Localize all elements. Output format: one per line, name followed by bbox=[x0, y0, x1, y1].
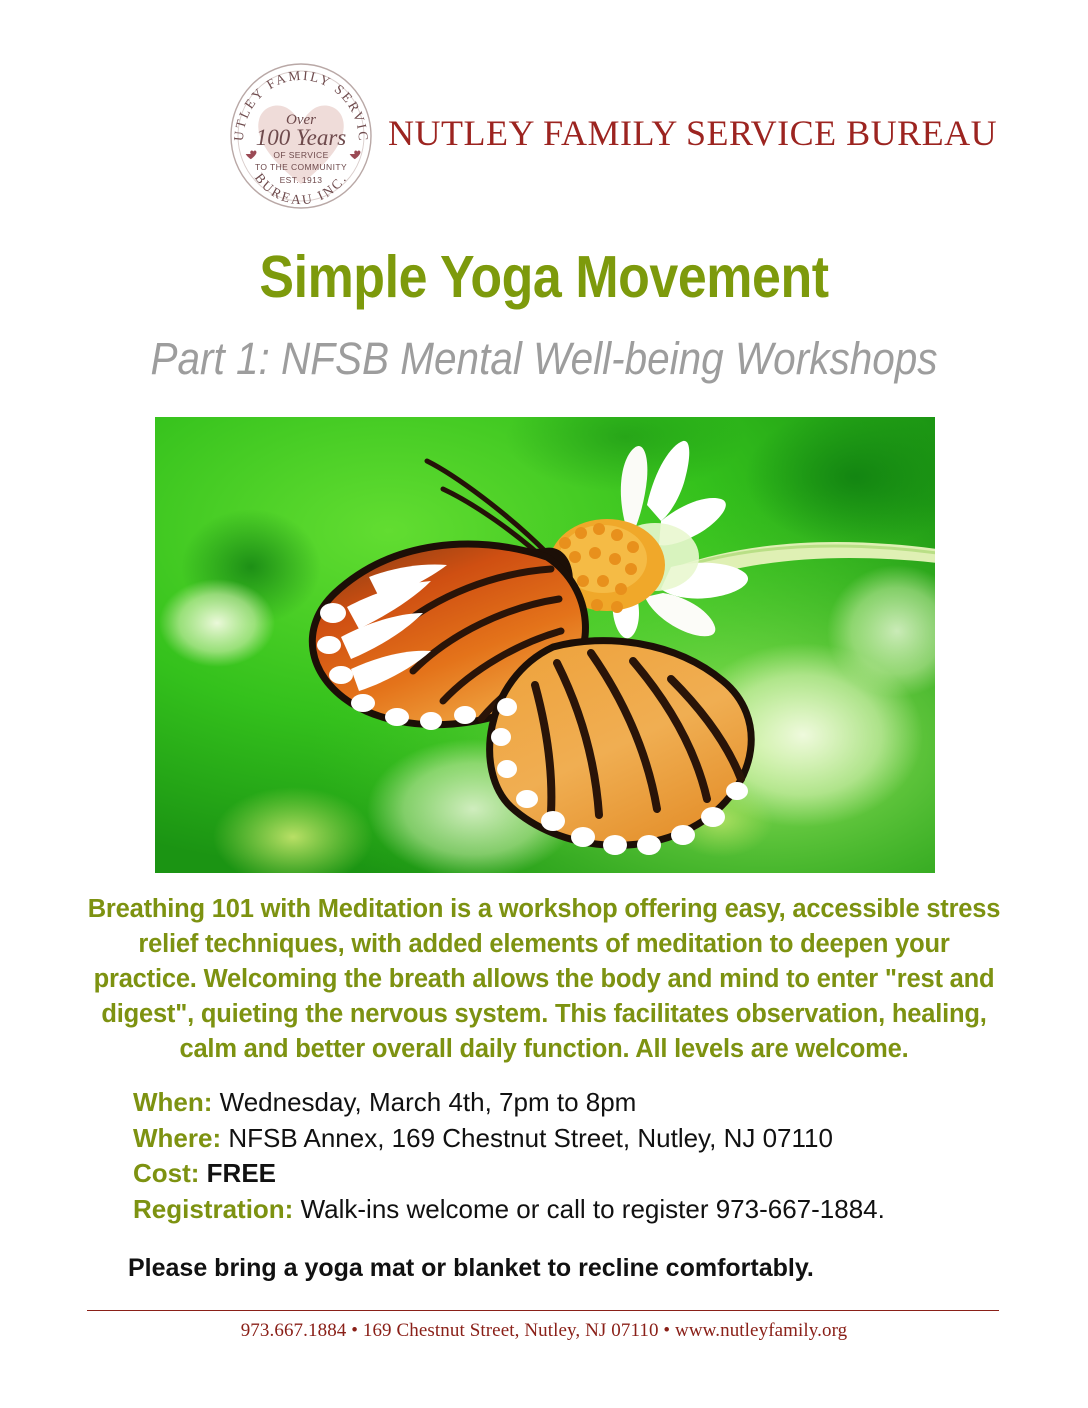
footer-contact-line: 973.667.1884 • 169 Chestnut Street, Nutl… bbox=[0, 1320, 1088, 1342]
organization-name: NUTLEY FAMILY SERVICE BUREAU bbox=[388, 112, 997, 154]
detail-value-when: Wednesday, March 4th, 7pm to 8pm bbox=[212, 1087, 636, 1117]
seal-years-text: 100 Years bbox=[256, 125, 347, 150]
detail-row-cost: Cost: FREE bbox=[133, 1156, 993, 1192]
detail-row-where: Where: NFSB Annex, 169 Chestnut Street, … bbox=[133, 1121, 993, 1157]
detail-row-when: When: Wednesday, March 4th, 7pm to 8pm bbox=[133, 1085, 993, 1121]
event-details: When: Wednesday, March 4th, 7pm to 8pm W… bbox=[133, 1085, 993, 1227]
detail-label-where: Where: bbox=[133, 1123, 221, 1153]
bring-mat-note: Please bring a yoga mat or blanket to re… bbox=[128, 1254, 814, 1283]
butterfly-photo bbox=[155, 417, 935, 873]
detail-value-where: NFSB Annex, 169 Chestnut Street, Nutley,… bbox=[221, 1123, 833, 1153]
detail-value-registration: Walk-ins welcome or call to register 973… bbox=[293, 1194, 885, 1224]
photo-bokeh-white-left bbox=[159, 579, 275, 667]
footer-divider bbox=[87, 1310, 999, 1311]
seal-community-text: TO THE COMMUNITY bbox=[255, 162, 347, 172]
detail-row-registration: Registration: Walk-ins welcome or call t… bbox=[133, 1192, 993, 1228]
flyer-header: NUTLEY FAMILY SERVICE BUREAU INC. Over 1… bbox=[0, 0, 1088, 225]
detail-label-cost: Cost: bbox=[133, 1158, 199, 1188]
nfsb-seal-logo: NUTLEY FAMILY SERVICE BUREAU INC. Over 1… bbox=[227, 60, 375, 212]
detail-label-when: When: bbox=[133, 1087, 212, 1117]
seal-established-text: EST. 1913 bbox=[280, 175, 323, 185]
detail-label-registration: Registration: bbox=[133, 1194, 293, 1224]
workshop-description: Breathing 101 with Meditation is a works… bbox=[86, 892, 1002, 1067]
detail-value-cost: FREE bbox=[199, 1158, 276, 1188]
flyer-subtitle: Part 1: NFSB Mental Well-being Workshops bbox=[54, 333, 1033, 385]
seal-of-service-text: OF SERVICE bbox=[273, 150, 328, 160]
flyer-title: Simple Yoga Movement bbox=[65, 243, 1022, 311]
